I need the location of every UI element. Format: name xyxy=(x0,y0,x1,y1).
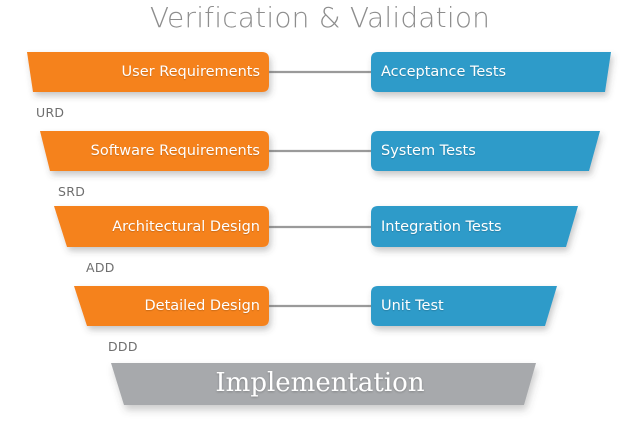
abbr-ddd: DDD xyxy=(108,339,138,354)
abbr-urd: URD xyxy=(36,105,64,120)
left-label-row-2: Software Requirements xyxy=(60,144,260,159)
right-label-row-2: System Tests xyxy=(381,144,601,159)
v-model-diagram: Verification & Validation User Requi xyxy=(0,0,640,427)
right-label-row-4: Unit Test xyxy=(381,299,601,314)
abbr-add: ADD xyxy=(86,260,115,275)
abbr-srd: SRD xyxy=(58,184,85,199)
right-label-row-3: Integration Tests xyxy=(381,220,601,235)
left-label-row-1: User Requirements xyxy=(60,65,260,80)
right-label-row-1: Acceptance Tests xyxy=(381,65,601,80)
left-label-row-4: Detailed Design xyxy=(60,299,260,314)
implementation-label: Implementation xyxy=(0,368,640,398)
left-label-row-3: Architectural Design xyxy=(60,220,260,235)
